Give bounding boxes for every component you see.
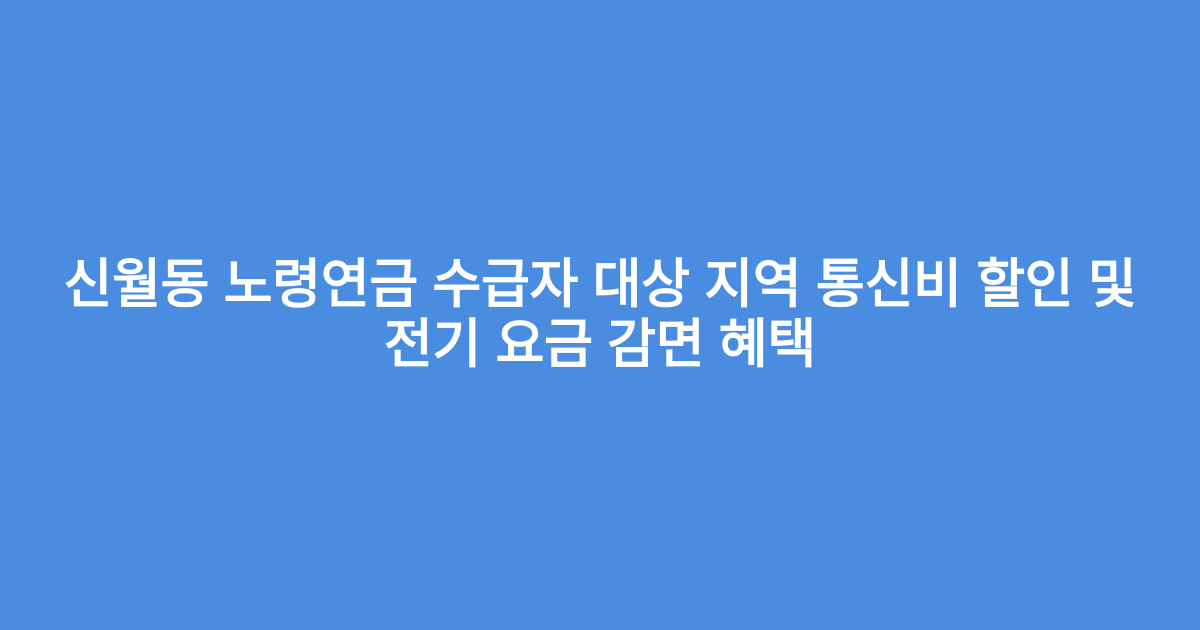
title-block: 신월동 노령연금 수급자 대상 지역 통신비 할인 및 전기 요금 감면 혜택 [45, 255, 1155, 375]
title-card: 신월동 노령연금 수급자 대상 지역 통신비 할인 및 전기 요금 감면 혜택 [0, 0, 1200, 630]
page-title: 신월동 노령연금 수급자 대상 지역 통신비 할인 및 전기 요금 감면 혜택 [55, 255, 1145, 375]
